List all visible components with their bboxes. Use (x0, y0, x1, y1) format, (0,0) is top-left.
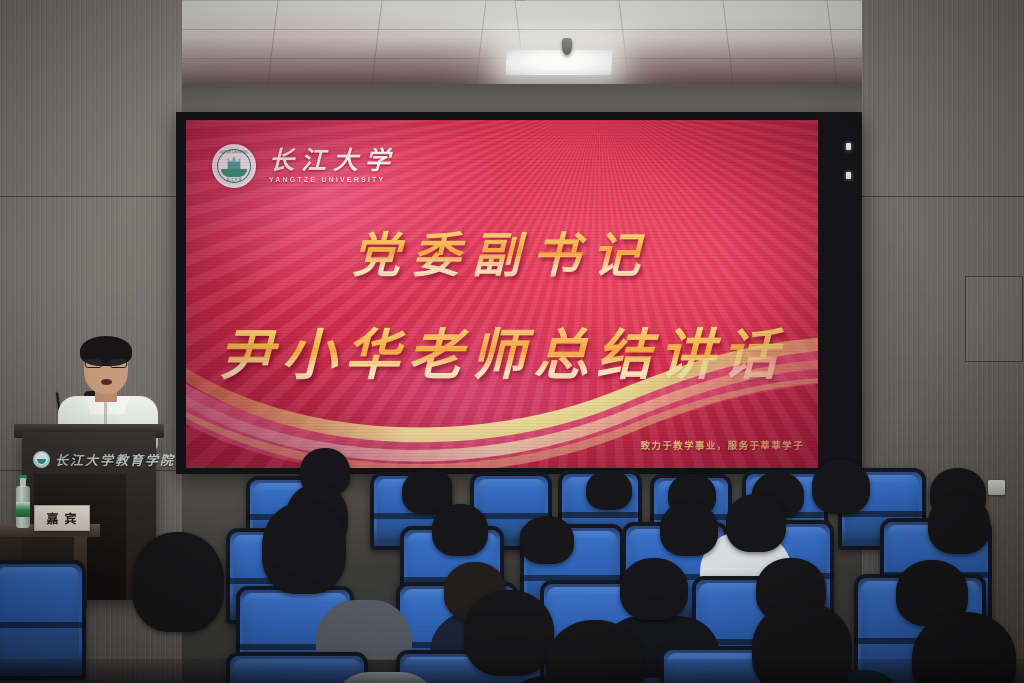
audience-head (660, 502, 718, 556)
speaker-mouth (101, 379, 112, 385)
auditorium-scene: YANGTZE UNIVERSITY 长江大学 长江大学 YANGTZE UNI… (0, 0, 1024, 683)
audience-head (132, 532, 224, 632)
glasses-lens-right (110, 359, 127, 368)
led-screen-content: YANGTZE UNIVERSITY 长江大学 长江大学 YANGTZE UNI… (186, 120, 818, 468)
audience-head (520, 516, 574, 564)
screen-vignette (186, 120, 818, 468)
sprinkler-icon (562, 38, 572, 55)
audience-head (928, 494, 990, 554)
foreground-shadow (0, 659, 1024, 683)
bezel-indicator-icon-1 (846, 143, 851, 150)
audience-head (812, 460, 870, 514)
audience-head (726, 494, 786, 552)
led-screen-right-bezel (818, 112, 862, 474)
audience-shoulders (316, 600, 412, 660)
bezel-indicator-icon-2 (846, 172, 851, 179)
glasses-lens-left (85, 359, 102, 368)
wall-recess-panel (965, 276, 1023, 362)
wall-seam-right (862, 196, 1024, 197)
audience-head (620, 558, 688, 620)
audience-area (0, 440, 1024, 683)
audience-head (586, 470, 632, 510)
audience-head (262, 502, 346, 594)
glasses-bridge (102, 363, 110, 364)
wall-seam-left (0, 196, 182, 197)
ceiling-light-panel-center (505, 50, 612, 75)
glasses-icon (85, 359, 127, 368)
audience-head (432, 504, 488, 556)
